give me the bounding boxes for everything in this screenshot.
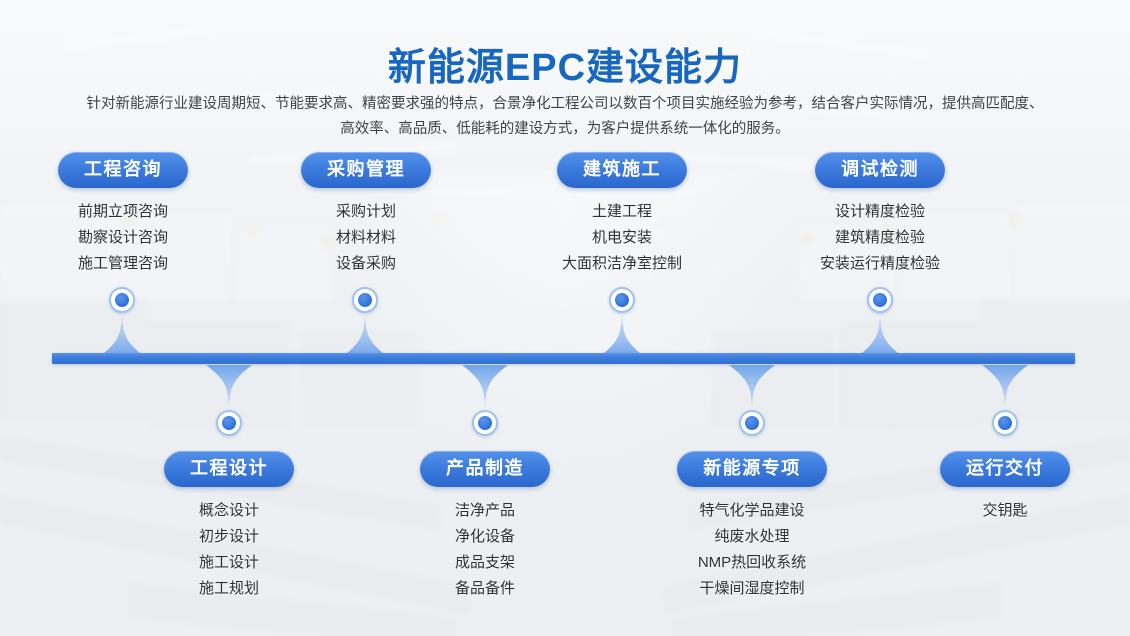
stage-item-list: 特气化学品建设 纯废水处理 NMP热回收系统 干燥间湿度控制	[629, 498, 875, 602]
stage-item: 干燥间湿度控制	[629, 576, 875, 602]
stage-top-3[interactable]: 建筑施工 土建工程 机电安装 大面积洁净室控制	[499, 152, 745, 277]
timeline-node-bottom-3[interactable]	[739, 410, 765, 436]
page-title: 新能源EPC建设能力	[0, 36, 1130, 91]
timeline-node-bottom-1[interactable]	[216, 410, 242, 436]
stage-top-1[interactable]: 工程咨询 前期立项咨询 勘察设计咨询 施工管理咨询	[0, 152, 246, 277]
stage-top-4[interactable]: 调试检测 设计精度检验 建筑精度检验 安装运行精度检验	[757, 152, 1003, 277]
stage-item: 设备采购	[243, 251, 489, 277]
stage-item: 净化设备	[362, 524, 608, 550]
stage-label-operation-delivery[interactable]: 运行交付	[940, 451, 1070, 487]
stage-item: 施工管理咨询	[0, 251, 246, 277]
stage-item: 机电安装	[499, 225, 745, 251]
stage-top-2[interactable]: 采购管理 采购计划 材料材料 设备采购	[243, 152, 489, 277]
infographic-stage: 新能源EPC建设能力 针对新能源行业建设周期短、节能要求高、精密要求强的特点，合…	[0, 0, 1130, 636]
stage-bottom-2[interactable]: 产品制造 洁净产品 净化设备 成品支架 备品备件	[362, 451, 608, 602]
stage-item-list: 洁净产品 净化设备 成品支架 备品备件	[362, 498, 608, 602]
stage-item: 材料材料	[243, 225, 489, 251]
stage-item: 大面积洁净室控制	[499, 251, 745, 277]
stage-label-building-construction[interactable]: 建筑施工	[557, 152, 687, 188]
stage-item: 特气化学品建设	[629, 498, 875, 524]
stage-item: 勘察设计咨询	[0, 225, 246, 251]
stage-label-procurement-management[interactable]: 采购管理	[301, 152, 431, 188]
stage-label-engineering-consulting[interactable]: 工程咨询	[58, 152, 188, 188]
stage-item: 安装运行精度检验	[757, 251, 1003, 277]
stage-label-commissioning-inspection[interactable]: 调试检测	[815, 152, 945, 188]
stage-item: 概念设计	[106, 498, 352, 524]
stage-item: 初步设计	[106, 524, 352, 550]
stage-bottom-1[interactable]: 工程设计 概念设计 初步设计 施工设计 施工规划	[106, 451, 352, 602]
stage-bottom-3[interactable]: 新能源专项 特气化学品建设 纯废水处理 NMP热回收系统 干燥间湿度控制	[629, 451, 875, 602]
stage-item-list: 采购计划 材料材料 设备采购	[243, 199, 489, 277]
timeline-node-bottom-2[interactable]	[472, 410, 498, 436]
timeline-connector-top-3	[599, 300, 645, 358]
stage-item: NMP热回收系统	[629, 550, 875, 576]
stage-bottom-4[interactable]: 运行交付 交钥匙	[882, 451, 1128, 524]
stage-item: 纯废水处理	[629, 524, 875, 550]
timeline-connector-top-4	[857, 300, 903, 358]
stage-item-list: 概念设计 初步设计 施工设计 施工规划	[106, 498, 352, 602]
timeline-connector-top-1	[99, 300, 145, 358]
stage-item-list: 设计精度检验 建筑精度检验 安装运行精度检验	[757, 199, 1003, 277]
stage-item-list: 前期立项咨询 勘察设计咨询 施工管理咨询	[0, 199, 246, 277]
stage-item: 设计精度检验	[757, 199, 1003, 225]
stage-item: 前期立项咨询	[0, 199, 246, 225]
stage-label-new-energy-special[interactable]: 新能源专项	[677, 451, 827, 487]
page-subtitle: 针对新能源行业建设周期短、节能要求高、精密要求强的特点，合景净化工程公司以数百个…	[85, 92, 1045, 142]
stage-item: 洁净产品	[362, 498, 608, 524]
stage-item: 交钥匙	[882, 498, 1128, 524]
stage-item: 土建工程	[499, 199, 745, 225]
stage-label-product-manufacturing[interactable]: 产品制造	[420, 451, 550, 487]
timeline-connector-top-2	[342, 300, 388, 358]
stage-item-list: 土建工程 机电安装 大面积洁净室控制	[499, 199, 745, 277]
stage-item-list: 交钥匙	[882, 498, 1128, 524]
timeline-node-bottom-4[interactable]	[992, 410, 1018, 436]
stage-label-engineering-design[interactable]: 工程设计	[164, 451, 294, 487]
stage-item: 采购计划	[243, 199, 489, 225]
stage-item: 备品备件	[362, 576, 608, 602]
stage-item: 施工设计	[106, 550, 352, 576]
stage-item: 建筑精度检验	[757, 225, 1003, 251]
stage-item: 成品支架	[362, 550, 608, 576]
stage-item: 施工规划	[106, 576, 352, 602]
timeline-bar	[52, 353, 1075, 364]
